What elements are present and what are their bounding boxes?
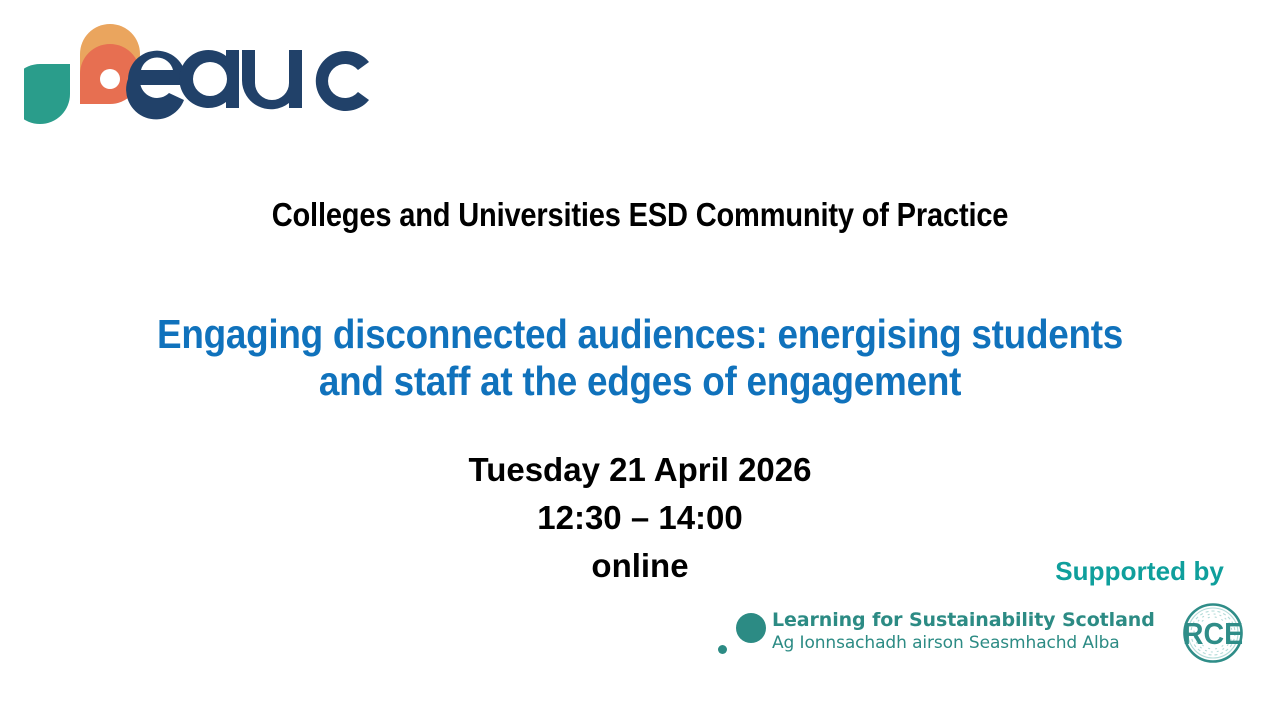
event-mode: online [240,542,1040,590]
rce-logo: RCE [1180,598,1250,668]
event-details: Tuesday 21 April 2026 12:30 – 14:00 onli… [240,446,1040,590]
event-title: Engaging disconnected audiences: energis… [136,311,1144,405]
eauc-logo [24,8,374,140]
eauc-wordmark [126,50,369,119]
community-of-practice-heading: Colleges and Universities ESD Community … [77,196,1203,234]
lfs-name: Learning for Sustainability Scotland [772,608,1155,632]
event-date: Tuesday 21 April 2026 [240,446,1040,494]
event-title-line-1: Engaging disconnected audiences: energis… [136,311,1144,358]
learning-for-sustainability-scotland-logo: Learning for Sustainability Scotland Ag … [716,604,1106,666]
supported-by-label: Supported by [1055,556,1224,587]
lfs-gaelic-subtitle: Ag Ionnsachadh airson Seasmhachd Alba [772,632,1155,655]
event-title-line-2: and staff at the edges of engagement [136,358,1144,405]
rce-abbreviation: RCE [1183,617,1243,651]
small-circle-icon [718,645,727,654]
large-circle-icon [736,613,766,643]
lfs-logo-text: Learning for Sustainability Scotland Ag … [772,608,1155,655]
slide-canvas: Colleges and Universities ESD Community … [0,0,1280,720]
event-time: 12:30 – 14:00 [240,494,1040,542]
logo-petal-teal [24,64,70,124]
lfs-dots-mark [716,604,774,662]
